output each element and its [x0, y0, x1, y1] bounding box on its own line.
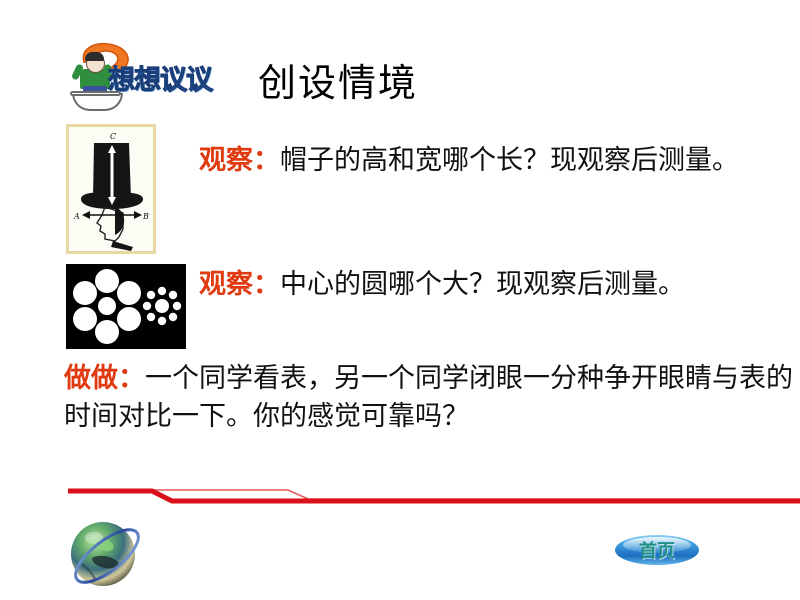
- home-button[interactable]: 首页: [614, 534, 700, 566]
- globe-earth-icon: [62, 512, 148, 598]
- svg-text:A: A: [73, 212, 80, 221]
- observe-circles-body: 中心的圆哪个大？现观察后测量。: [280, 269, 685, 300]
- activity-text: 做做：一个同学看表，另一个同学闭眼一分种争开眼睛与表的时间对比一下。你的感觉可靠…: [64, 360, 794, 436]
- activity-body: 一个同学看表，另一个同学闭眼一分种争开眼睛与表的时间对比一下。你的感觉可靠吗？: [64, 363, 793, 432]
- think-and-discuss-badge: 想想议议: [60, 42, 200, 110]
- svg-text:B: B: [142, 212, 149, 221]
- observe-hat-text: 观察：帽子的高和宽哪个长？现观察后测量。: [199, 142, 789, 180]
- observe-circles-lead: 观察：: [199, 269, 280, 300]
- activity-lead: 做做：: [64, 363, 145, 394]
- svg-text:D: D: [113, 201, 121, 210]
- page-title: 创设情境: [258, 52, 418, 107]
- logo-text: 想想议议: [108, 58, 212, 97]
- observe-hat-body: 帽子的高和宽哪个长？现观察后测量。: [280, 145, 739, 176]
- slide-canvas: 想想议议 创设情境 C D A B: [0, 0, 800, 600]
- observe-hat-lead: 观察：: [199, 145, 280, 176]
- hat-illusion-image: C D A B: [66, 124, 156, 254]
- home-button-label: 首页: [614, 534, 700, 566]
- ebbinghaus-circles-image: [66, 264, 186, 349]
- observe-circles-text: 观察：中心的圆哪个大？现观察后测量。: [199, 266, 779, 304]
- decorative-divider: [0, 478, 800, 514]
- figure-hair: [85, 52, 104, 61]
- svg-text:C: C: [110, 132, 116, 141]
